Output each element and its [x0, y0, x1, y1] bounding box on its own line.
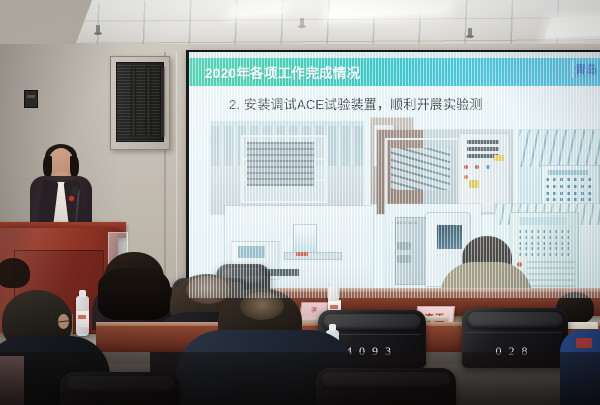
photo-button-row — [546, 198, 593, 201]
photo-panel-switch — [517, 262, 522, 267]
photo-panel-gauge-row — [519, 230, 571, 233]
photo-equipment-internals — [247, 142, 314, 186]
photo-sample-tray — [284, 252, 342, 260]
speaker-bar — [132, 67, 135, 137]
photo-analyzer-screen — [435, 223, 464, 251]
projection-screen: 2020年各项工作完成情况 青岛 QINGDAO 2. 安装调试ACE试验装置，… — [186, 50, 600, 298]
photo-yellow-tag — [494, 155, 504, 161]
photo-panel-gauge-row — [519, 236, 571, 239]
attendee-navy-jacket-man-crown — [240, 292, 284, 320]
photo-analyzer-left-module — [395, 217, 430, 285]
presenter-lapel-pin — [69, 196, 74, 201]
paper-document — [566, 322, 599, 329]
wall-speaker — [110, 56, 170, 150]
speaker-mount-bracket — [24, 90, 38, 108]
attendee-blue-jacket-badge — [576, 338, 592, 348]
photo-piping — [391, 148, 451, 190]
photo-button-row — [546, 185, 593, 188]
slide-body-text: 2. 安装调试ACE试验装置，顺利开展实验测 — [229, 94, 483, 113]
photo-cabinet-slot — [467, 140, 500, 144]
ceiling-light-panel — [545, 14, 600, 38]
photo-instrument-screen — [238, 246, 265, 257]
sprinkler-head-icon — [300, 18, 304, 27]
photo-panel-gauge-row — [519, 253, 571, 256]
chair-seam — [468, 332, 562, 333]
photo-analyzer-drawer — [397, 255, 410, 263]
slide-title: 2020年各项工作完成情况 — [205, 62, 360, 82]
speaker-grille — [116, 62, 164, 142]
glasses-icon — [52, 311, 73, 323]
photo-analyzer-brand: SCIENCE — [397, 220, 418, 225]
attendee-background-head — [0, 258, 30, 288]
photo-panel-terminal-strip — [527, 260, 575, 286]
attendee-balding-man-crown — [186, 276, 230, 304]
foreground-shadow — [0, 352, 600, 405]
chair-headrest — [467, 312, 563, 328]
photo-panel-gauge-row — [519, 242, 571, 245]
photo-panel-gauge-row — [519, 247, 571, 250]
microphone-icon — [72, 186, 79, 195]
slide-photo-indoor-skid-control-cabinet — [377, 130, 513, 214]
photo-button-row — [546, 192, 593, 195]
photo-control-cabinet — [459, 133, 510, 212]
slide-photo-outdoor-skid-frame — [211, 122, 363, 214]
presenter-hair-side — [43, 156, 52, 178]
attendee-woman-long-hair-hair — [98, 268, 170, 320]
photo-beaker — [293, 224, 317, 254]
sprinkler-head-icon — [468, 28, 472, 37]
bottle-label — [76, 310, 89, 328]
slide-logo-subtext: QINGDAO — [575, 74, 600, 78]
chair-headrest — [323, 314, 421, 330]
photo-cabinet-slot — [467, 147, 500, 151]
photo-button-row — [546, 178, 593, 181]
photo-canopy — [519, 130, 600, 167]
slide-logo-divider — [572, 60, 573, 78]
wall-seam-highlight — [176, 52, 177, 302]
conference-room-photo: 2020年各项工作完成情况 青岛 QINGDAO 2. 安装调试ACE试验装置，… — [0, 0, 600, 405]
sprinkler-head-icon — [96, 25, 100, 34]
speaker-bar — [161, 67, 164, 137]
photo-emergency-stop — [469, 180, 479, 188]
water-bottle — [76, 296, 89, 336]
photo-analyzer-drawer — [397, 242, 410, 250]
photo-panel-header — [519, 217, 567, 225]
presenter-hair-side — [70, 156, 79, 178]
speaker-bar — [147, 67, 150, 137]
photo-red-marker — [296, 252, 308, 256]
photo-cabinet-label — [548, 170, 588, 175]
